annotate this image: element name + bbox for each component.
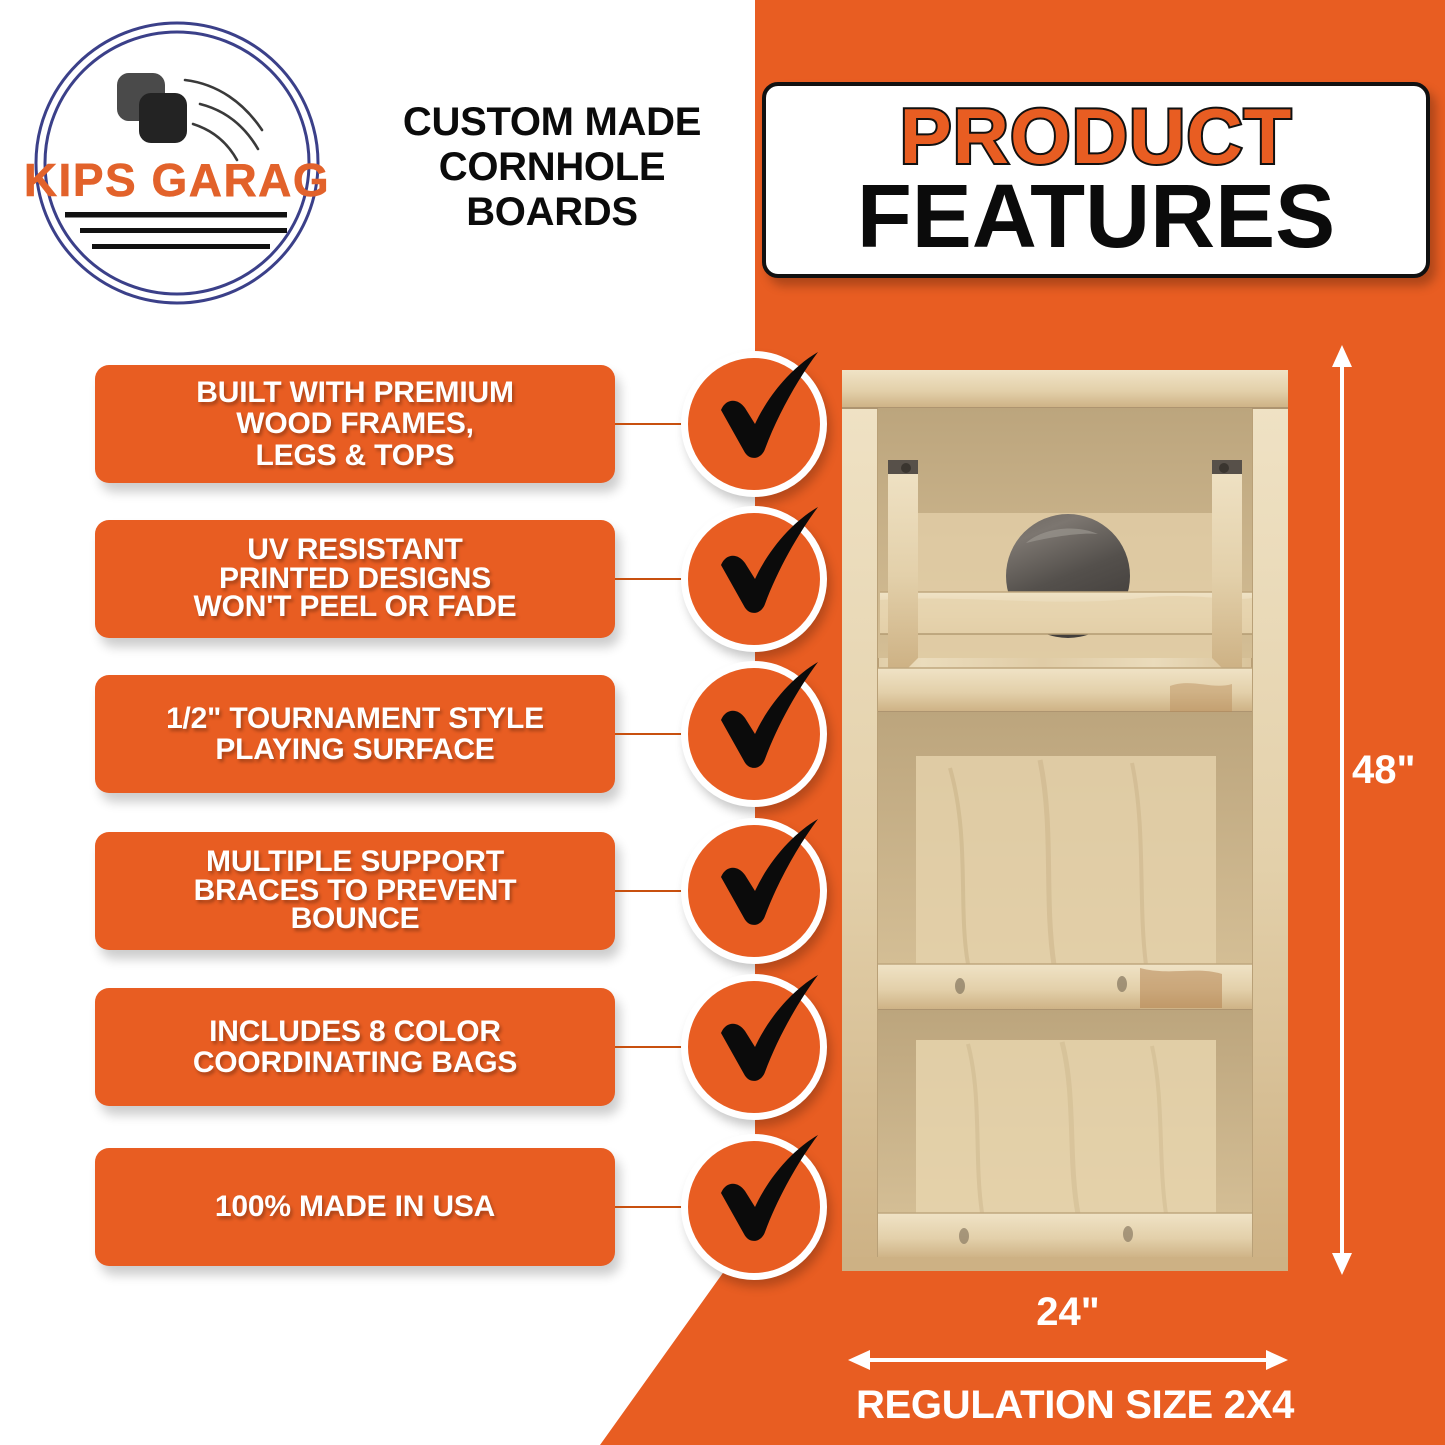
feature-list: BUILT WITH PREMIUMWOOD FRAMES,LEGS & TOP… bbox=[0, 0, 1445, 1445]
feature-row-playing-surface: 1/2" TOURNAMENT STYLEPLAYING SURFACE bbox=[95, 675, 775, 793]
feature-line: BRACES TO PREVENT bbox=[194, 877, 517, 906]
check-icon bbox=[682, 487, 832, 637]
feature-label-made-in-usa: 100% MADE IN USA bbox=[215, 1191, 495, 1222]
check-icon bbox=[682, 799, 832, 949]
regulation-size-label: REGULATION SIZE 2X4 bbox=[840, 1383, 1310, 1428]
checkmark-circle-playing-surface bbox=[681, 661, 827, 807]
feature-line: PRINTED DESIGNS bbox=[193, 565, 516, 594]
width-dimension-arrow bbox=[848, 1348, 1288, 1372]
feature-label-support-braces: MULTIPLE SUPPORTBRACES TO PREVENTBOUNCE bbox=[194, 848, 517, 934]
feature-pill-premium-wood[interactable]: BUILT WITH PREMIUMWOOD FRAMES,LEGS & TOP… bbox=[95, 365, 615, 483]
feature-line: BOUNCE bbox=[194, 905, 517, 934]
feature-row-uv-resistant: UV RESISTANTPRINTED DESIGNSWON'T PEEL OR… bbox=[95, 520, 775, 638]
feature-line: PLAYING SURFACE bbox=[166, 734, 544, 765]
feature-pill-made-in-usa[interactable]: 100% MADE IN USA bbox=[95, 1148, 615, 1266]
feature-line: BUILT WITH PREMIUM bbox=[196, 377, 513, 408]
height-dimension-label: 48" bbox=[1352, 748, 1415, 793]
feature-pill-playing-surface[interactable]: 1/2" TOURNAMENT STYLEPLAYING SURFACE bbox=[95, 675, 615, 793]
feature-row-support-braces: MULTIPLE SUPPORTBRACES TO PREVENTBOUNCE bbox=[95, 832, 775, 950]
feature-pill-uv-resistant[interactable]: UV RESISTANTPRINTED DESIGNSWON'T PEEL OR… bbox=[95, 520, 615, 638]
feature-line: UV RESISTANT bbox=[193, 536, 516, 565]
feature-label-included-bags: INCLUDES 8 COLORCOORDINATING BAGS bbox=[193, 1016, 517, 1078]
checkmark-circle-made-in-usa bbox=[681, 1134, 827, 1280]
feature-line: 100% MADE IN USA bbox=[215, 1191, 495, 1222]
checkmark-circle-support-braces bbox=[681, 818, 827, 964]
checkmark-circle-included-bags bbox=[681, 974, 827, 1120]
feature-row-premium-wood: BUILT WITH PREMIUMWOOD FRAMES,LEGS & TOP… bbox=[95, 365, 775, 483]
check-icon bbox=[682, 1115, 832, 1265]
feature-line: LEGS & TOPS bbox=[196, 440, 513, 471]
feature-row-included-bags: INCLUDES 8 COLORCOORDINATING BAGS bbox=[95, 988, 775, 1106]
checkmark-circle-premium-wood bbox=[681, 351, 827, 497]
check-icon bbox=[682, 955, 832, 1105]
feature-pill-included-bags[interactable]: INCLUDES 8 COLORCOORDINATING BAGS bbox=[95, 988, 615, 1106]
check-icon bbox=[682, 332, 832, 482]
feature-line: MULTIPLE SUPPORT bbox=[194, 848, 517, 877]
feature-line: WON'T PEEL OR FADE bbox=[193, 593, 516, 622]
feature-label-premium-wood: BUILT WITH PREMIUMWOOD FRAMES,LEGS & TOP… bbox=[196, 377, 513, 471]
height-dimension-arrow bbox=[1318, 345, 1366, 1275]
feature-line: INCLUDES 8 COLOR bbox=[193, 1016, 517, 1047]
width-dimension-label: 24" bbox=[848, 1290, 1288, 1335]
feature-line: 1/2" TOURNAMENT STYLE bbox=[166, 703, 544, 734]
check-icon bbox=[682, 642, 832, 792]
feature-row-made-in-usa: 100% MADE IN USA bbox=[95, 1148, 775, 1266]
feature-line: COORDINATING BAGS bbox=[193, 1047, 517, 1078]
checkmark-circle-uv-resistant bbox=[681, 506, 827, 652]
feature-pill-support-braces[interactable]: MULTIPLE SUPPORTBRACES TO PREVENTBOUNCE bbox=[95, 832, 615, 950]
feature-line: WOOD FRAMES, bbox=[196, 408, 513, 439]
feature-label-playing-surface: 1/2" TOURNAMENT STYLEPLAYING SURFACE bbox=[166, 703, 544, 765]
feature-label-uv-resistant: UV RESISTANTPRINTED DESIGNSWON'T PEEL OR… bbox=[193, 536, 516, 622]
